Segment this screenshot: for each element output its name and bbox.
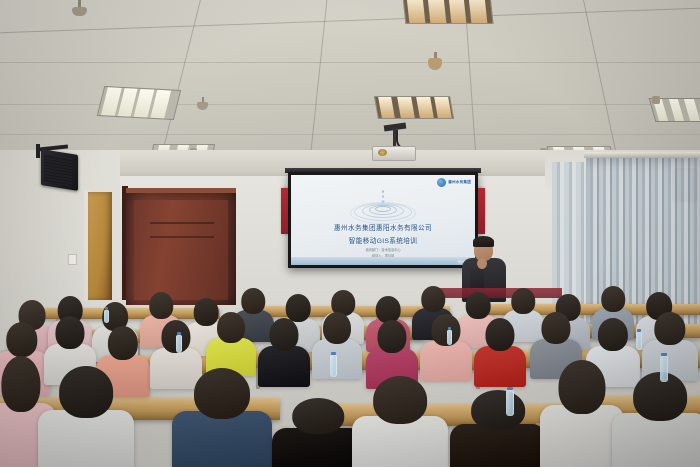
water-bottle <box>104 310 109 323</box>
bottle-cap <box>637 329 641 332</box>
water-bottle <box>660 356 668 382</box>
bottle-cap <box>331 352 335 355</box>
bottle-cap <box>177 332 181 335</box>
water-bottle <box>176 335 182 353</box>
bottle-cap <box>105 307 108 310</box>
bottle-layer <box>0 0 700 467</box>
water-bottle <box>636 332 642 350</box>
bottle-cap <box>661 353 666 356</box>
bottle-cap <box>507 387 512 390</box>
water-bottle <box>447 330 452 345</box>
water-bottle <box>330 355 337 377</box>
water-bottle <box>506 390 514 416</box>
lecture-room-photo: 惠州水务集团 惠州水务集团惠阳水务有限公司 智能移动GIS系统培训 培训部门：技… <box>0 0 700 467</box>
bottle-cap <box>448 327 451 330</box>
